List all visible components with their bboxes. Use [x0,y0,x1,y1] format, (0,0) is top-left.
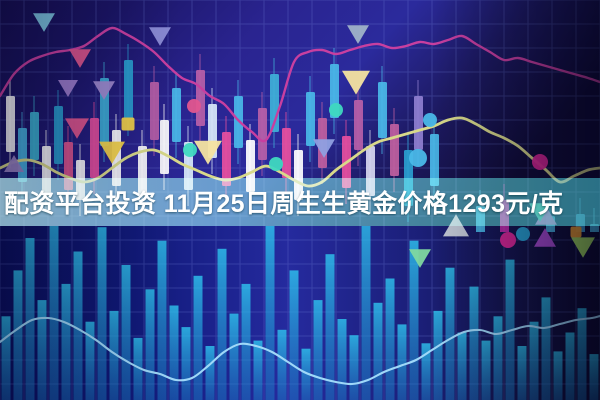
banner-image: 配资平台投资 11月25日周生生黄金价格1293元/克 [0,0,600,400]
headline-title: 配资平台投资 11月25日周生生黄金价格1293元/克 [0,178,600,226]
